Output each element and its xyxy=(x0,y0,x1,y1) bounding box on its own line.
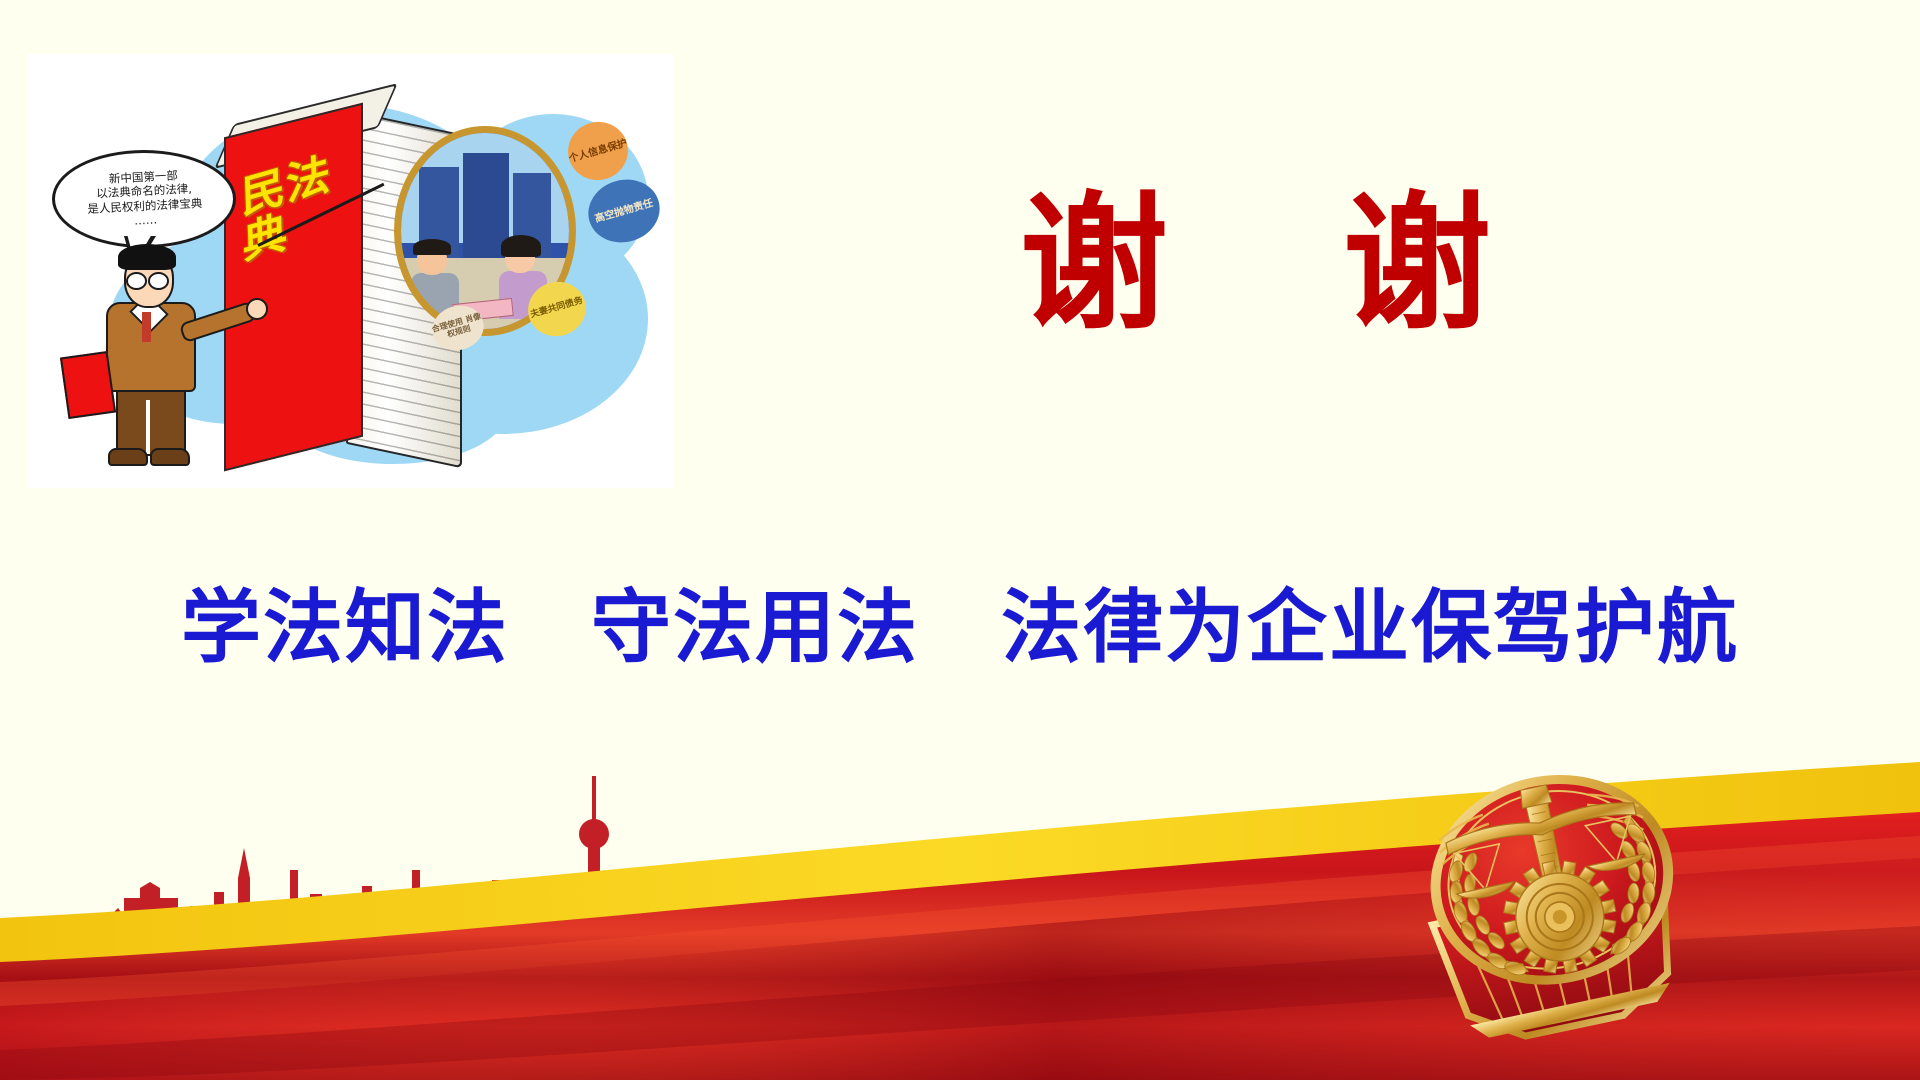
civil-code-illustration: 民法典 个人信息保护 高空抛物责任 夫妻共同债务 合理使用 肖像权规则 新中国第… xyxy=(28,54,674,488)
page-title: 谢 谢 xyxy=(1020,190,1515,338)
teacher-glasses-right xyxy=(148,272,169,290)
scene-person-male-hair xyxy=(413,239,451,255)
teacher-held-book xyxy=(60,351,116,419)
teacher-shoe-right xyxy=(150,448,190,466)
teacher-figure xyxy=(68,250,248,470)
teacher-legs xyxy=(116,386,186,456)
teacher-leg-split xyxy=(146,400,150,454)
teacher-hand xyxy=(246,298,268,320)
teacher-shoe-left xyxy=(108,448,148,466)
scene-person-female-hair xyxy=(501,235,541,257)
speech-bubble-text: 新中国第一部 以法典命名的法律, 是人民权利的法律宝典 …… xyxy=(85,167,203,230)
teacher-tie xyxy=(142,312,151,342)
procuratorate-emblem xyxy=(1392,760,1712,1050)
teacher-hair xyxy=(118,244,176,270)
presentation-slide: 民法典 个人信息保护 高空抛物责任 夫妻共同债务 合理使用 肖像权规则 新中国第… xyxy=(0,0,1920,1080)
slogan-text: 学法知法 守法用法 法律为企业保驾护航 xyxy=(0,584,1920,672)
teacher-glasses-left xyxy=(126,272,147,290)
